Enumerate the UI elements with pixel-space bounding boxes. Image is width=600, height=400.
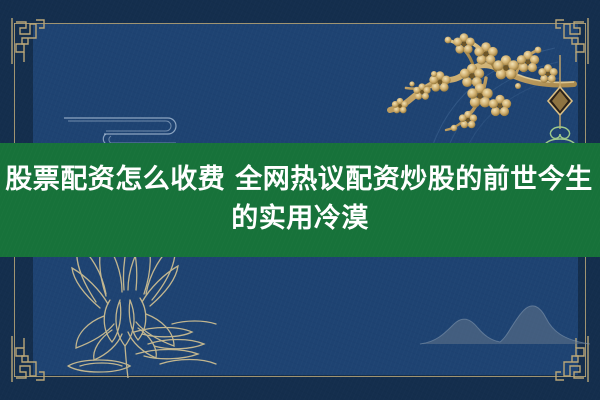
- title-line-1: 股票配资怎么收费 全网热议配资炒股的前世今生: [5, 163, 592, 198]
- title-line-2: 的实用冷漠: [231, 202, 369, 237]
- poster-canvas: 股票配资怎么收费 全网热议配资炒股的前世今生 的实用冷漠: [0, 0, 600, 400]
- poster-title: 股票配资怎么收费 全网热议配资炒股的前世今生 的实用冷漠: [0, 143, 600, 257]
- corner-meander-top-left-icon: [8, 14, 52, 70]
- mountain-silhouette-icon: [420, 300, 590, 346]
- cloud-line-motif: [62, 108, 192, 146]
- lotus-flower-icon: [30, 238, 240, 378]
